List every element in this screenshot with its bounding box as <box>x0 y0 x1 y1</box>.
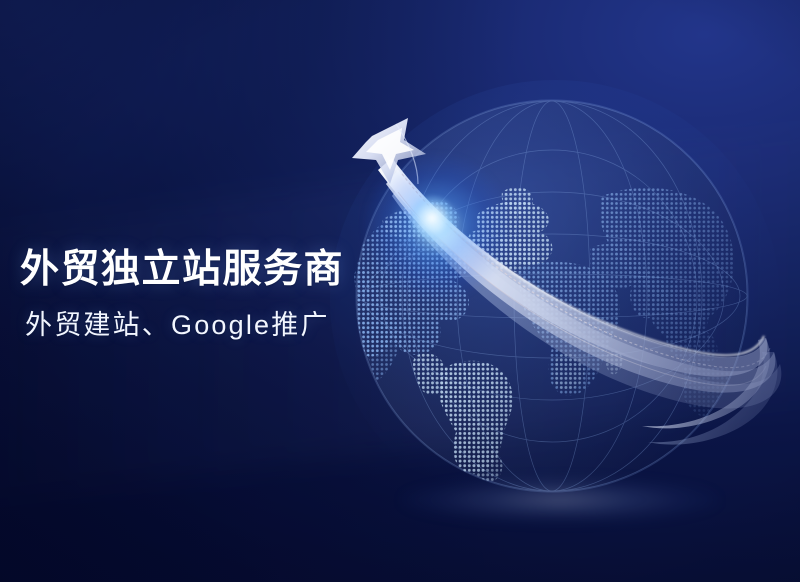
hero-copy-block: 外贸独立站服务商 外贸建站、Google推广 <box>20 246 440 342</box>
hero-banner: 外贸独立站服务商 外贸建站、Google推广 <box>0 0 800 582</box>
page-subtitle: 外贸建站、Google推广 <box>25 308 440 342</box>
page-title: 外贸独立站服务商 <box>20 246 440 294</box>
